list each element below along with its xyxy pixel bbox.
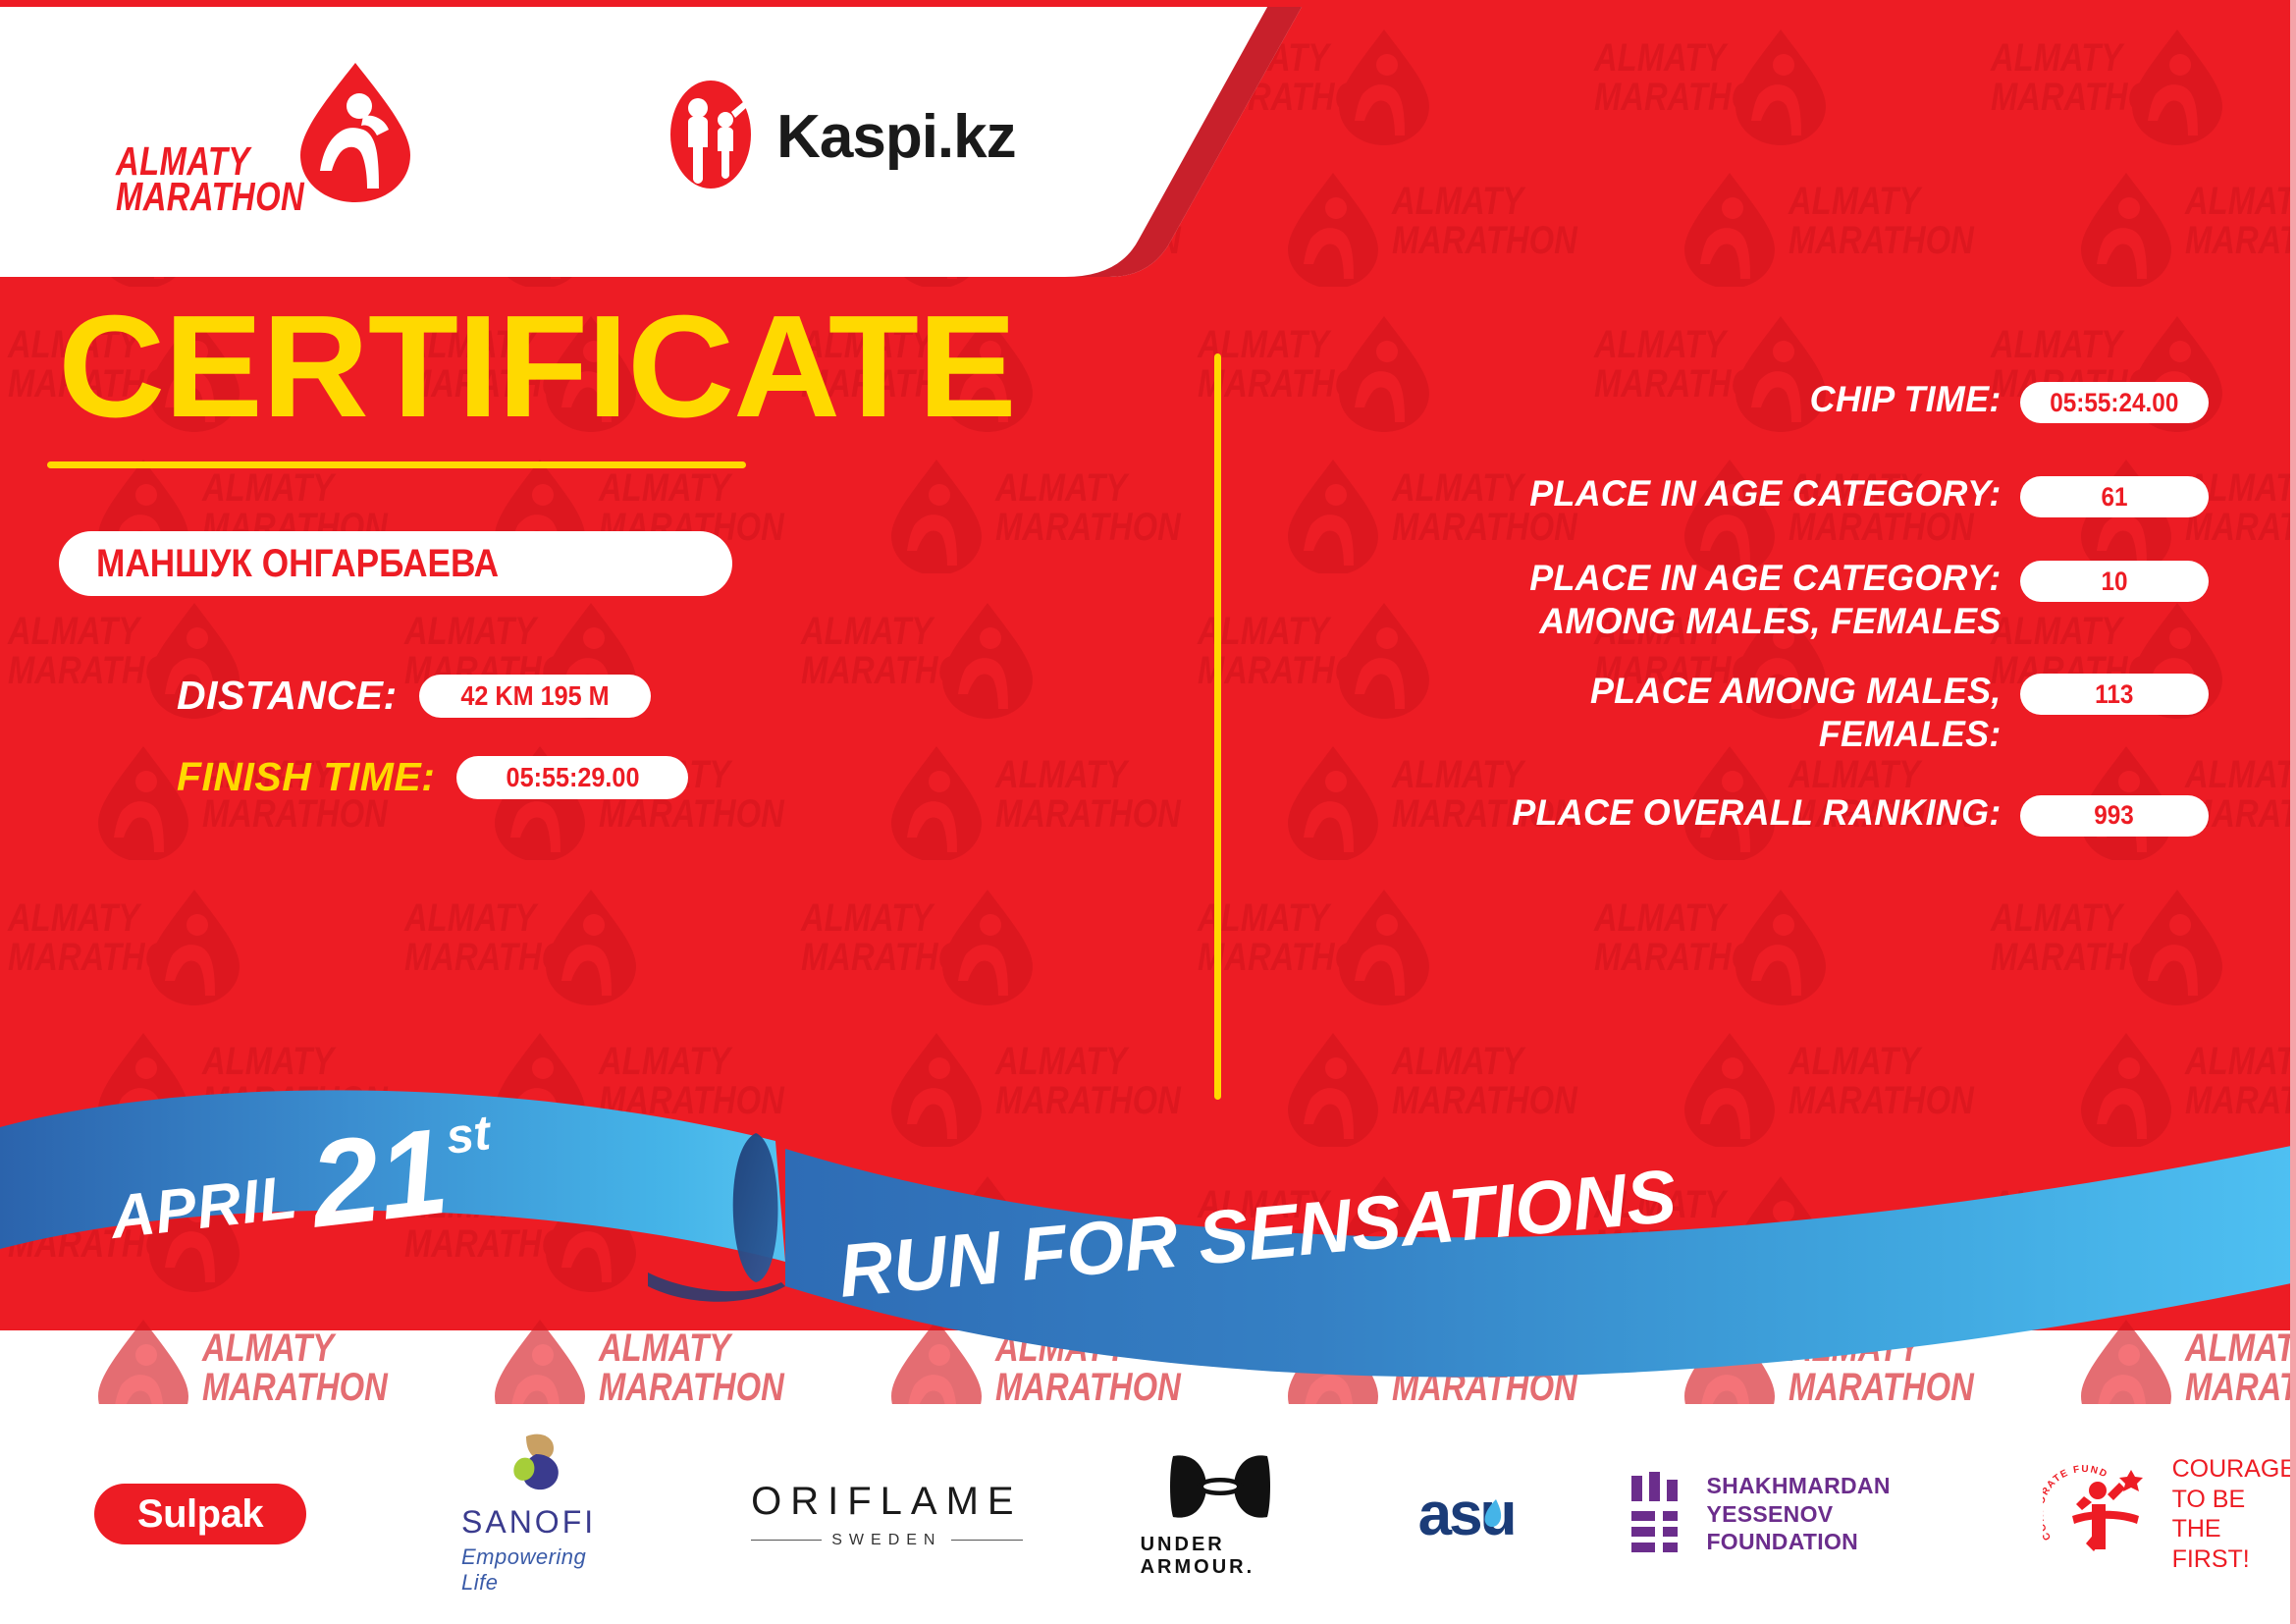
sponsor-logo-under-armour: UNDER ARMOUR. [1141, 1440, 1301, 1588]
title-underline-rule [47, 461, 746, 468]
result-row-place-overall: PLACE OVERALL RANKING: 993 [1276, 791, 2209, 837]
yessenov-line1: SHAKHMARDAN YESSENOV [1706, 1472, 1934, 1529]
place-overall-value-pill: 993 [2020, 795, 2209, 837]
asu-wordmark: asu [1418, 1480, 1515, 1549]
place-among-gender-label-line1: PLACE AMONG MALES, [1299, 670, 2002, 713]
sanofi-wordmark: SANOFI [461, 1504, 596, 1541]
place-age-category-gender-value: 10 [2101, 567, 2127, 597]
place-age-category-value-pill: 61 [2020, 476, 2209, 517]
athlete-name-field: МАНШУК ОНГАРБАЕВА [59, 531, 732, 596]
asu-droplet-icon [1479, 1476, 1505, 1545]
sponsor-logo-asu: asu [1418, 1440, 1515, 1588]
corporate-fund-wordmark: COURAGE TO BE THE FIRST! [2172, 1454, 2296, 1574]
oriflame-wordmark: ORIFLAME [751, 1480, 1022, 1524]
finish-time-row: FINISH TIME: 05:55:29.00 [177, 754, 1168, 800]
top-red-rule [0, 0, 2296, 7]
kaspi-wordmark: Kaspi.kz [776, 102, 1016, 172]
place-overall-value: 993 [2095, 800, 2135, 831]
chip-time-label: CHIP TIME: [1299, 378, 2020, 421]
distance-value: 42 KM 195 M [460, 680, 609, 712]
sponsor-logo-sanofi: SANOFI Empowering Life [461, 1440, 596, 1588]
athlete-name-value: МАНШУК ОНГАРБАЕВА [96, 542, 499, 586]
oriflame-sub: SWEDEN [751, 1532, 1022, 1549]
corporate-fund-line3: THE FIRST! [2172, 1514, 2296, 1574]
result-row-chip-time: CHIP TIME: 05:55:24.00 [1276, 378, 2209, 423]
sulpak-wordmark: Sulpak [137, 1492, 263, 1537]
place-among-gender-value: 113 [2095, 679, 2133, 710]
logo-line-marathon: MARATHON [116, 179, 304, 214]
distance-row: DISTANCE: 42 KM 195 M [177, 673, 1168, 719]
sanofi-tagline: Empowering Life [461, 1544, 596, 1596]
event-month: APRIL [107, 1163, 301, 1253]
event-day-ordinal: st [444, 1104, 494, 1165]
sulpak-badge: Sulpak [94, 1484, 306, 1544]
place-age-category-gender-value-pill: 10 [2020, 561, 2209, 602]
results-column: CHIP TIME: 05:55:24.00 PLACE IN AGE CATE… [1276, 378, 2209, 882]
almaty-marathon-logo: ALMATY MARATHON [116, 59, 416, 215]
sanofi-bird-icon [493, 1433, 565, 1500]
chip-time-value-pill: 05:55:24.00 [2020, 382, 2209, 423]
page-title: CERTIFICATE [0, 295, 1192, 440]
oriflame-rule-right [951, 1540, 1022, 1541]
finish-time-label: FINISH TIME: [177, 754, 435, 800]
sponsor-logo-oriflame: ORIFLAME SWEDEN [751, 1440, 1022, 1588]
almaty-marathon-wordmark: ALMATY MARATHON [116, 143, 304, 214]
place-among-gender-label: PLACE AMONG MALES, FEMALES: [1299, 670, 2020, 755]
chip-time-value: 05:55:24.00 [2050, 388, 2178, 418]
place-among-gender-value-pill: 113 [2020, 674, 2209, 715]
under-armour-wordmark: UNDER ARMOUR. [1141, 1534, 1301, 1579]
place-age-category-label: PLACE IN AGE CATEGORY: [1299, 472, 2020, 515]
event-day: 21 [306, 1119, 453, 1237]
oriflame-rule-left [751, 1540, 822, 1541]
kaspi-people-icon [667, 77, 755, 197]
certificate-page: ALMATY MARATHON [0, 0, 2296, 1624]
sponsor-logo-sulpak: Sulpak [94, 1440, 306, 1588]
finish-time-value: 05:55:29.00 [506, 762, 639, 793]
result-row-place-age-category-gender: PLACE IN AGE CATEGORY: AMONG MALES, FEMA… [1276, 557, 2209, 642]
yessenov-wordmark: SHAKHMARDAN YESSENOV FOUNDATION [1706, 1472, 1934, 1556]
place-age-category-value: 61 [2101, 482, 2127, 513]
oriflame-tagline: SWEDEN [822, 1532, 951, 1549]
right-edge-rule [2290, 0, 2296, 1624]
marathon-runner-drop-icon [294, 59, 416, 209]
sponsor-logo-yessenov-foundation: SHAKHMARDAN YESSENOV FOUNDATION [1629, 1440, 1934, 1588]
left-column: CERTIFICATE МАНШУК ОНГАРБАЕВА DISTANCE: … [0, 295, 1168, 800]
sponsor-logo-corporate-fund: CORPORATE FUND COURAGE TO BE THE FIRST! [2043, 1440, 2296, 1588]
yessenov-bars-icon [1629, 1472, 1686, 1557]
under-armour-icon [1165, 1450, 1275, 1528]
kaspi-logo: Kaspi.kz [667, 77, 1016, 197]
place-among-gender-label-line2: FEMALES: [1299, 713, 2002, 756]
corporate-fund-line1: COURAGE [2172, 1454, 2296, 1485]
yellow-vertical-divider [1214, 353, 1221, 1100]
place-age-category-gender-label-line1: PLACE IN AGE CATEGORY: [1299, 557, 2002, 600]
header-logos: ALMATY MARATHON [0, 0, 1178, 273]
place-overall-label: PLACE OVERALL RANKING: [1299, 791, 2020, 835]
result-row-place-age-category: PLACE IN AGE CATEGORY: 61 [1276, 472, 2209, 517]
corporate-fund-runner-icon: CORPORATE FUND [2043, 1463, 2161, 1566]
finish-time-value-pill: 05:55:29.00 [456, 756, 688, 799]
sponsor-strip: Sulpak SANOFI Empowering Life ORIFLAME S… [0, 1404, 2296, 1624]
place-age-category-gender-label: PLACE IN AGE CATEGORY: AMONG MALES, FEMA… [1299, 557, 2020, 642]
distance-value-pill: 42 KM 195 M [419, 675, 651, 718]
place-age-category-gender-label-line2: AMONG MALES, FEMALES [1299, 600, 2002, 643]
result-row-place-among-gender: PLACE AMONG MALES, FEMALES: 113 [1276, 670, 2209, 755]
distance-label: DISTANCE: [177, 673, 398, 719]
yessenov-line2: FOUNDATION [1706, 1528, 1934, 1556]
corporate-fund-line2: TO BE [2172, 1485, 2296, 1515]
